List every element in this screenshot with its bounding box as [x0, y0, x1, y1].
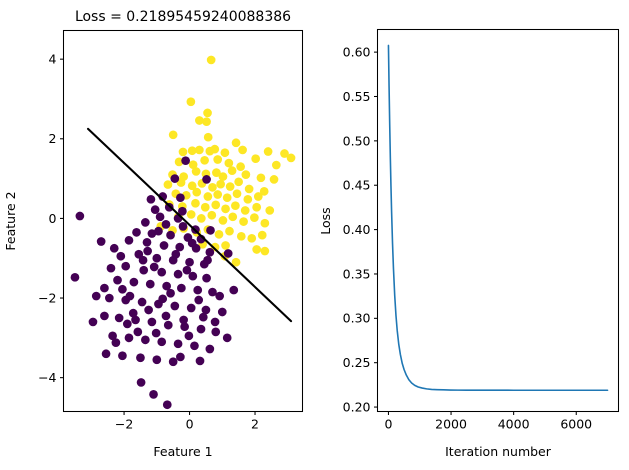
scatter-xlabel: Feature 1 — [153, 444, 212, 459]
subplot-scatter: Loss = 0.21895459240088386 −202 −4−2024 … — [3, 9, 303, 459]
scatter-point — [261, 247, 270, 256]
scatter-point — [287, 154, 296, 163]
scatter-point — [213, 190, 222, 199]
scatter-point — [247, 234, 256, 243]
scatter-point — [125, 334, 134, 343]
scatter-point — [176, 353, 185, 362]
scatter-point — [162, 312, 171, 321]
scatter-point — [223, 193, 232, 202]
scatter-point — [71, 273, 80, 282]
loss-x-ticks: 0200040006000 — [384, 412, 592, 432]
scatter-point — [154, 227, 163, 236]
scatter-point — [211, 318, 220, 327]
scatter-point — [181, 156, 190, 165]
scatter-point — [183, 266, 192, 275]
scatter-point — [193, 286, 202, 295]
loss-y-tick-label: 0.20 — [343, 399, 371, 414]
loss-x-tick-label: 4000 — [498, 417, 530, 432]
loss-y-ticks: 0.200.250.300.350.400.450.500.550.60 — [343, 45, 378, 415]
scatter-point — [202, 175, 211, 184]
scatter-point — [196, 357, 205, 366]
scatter-point — [187, 304, 196, 313]
scatter-point — [157, 268, 166, 277]
scatter-y-tick-label: −4 — [38, 370, 56, 385]
scatter-point — [149, 390, 158, 399]
scatter-point — [171, 250, 180, 259]
scatter-point — [166, 289, 175, 298]
scatter-point — [272, 161, 281, 170]
scatter-point — [221, 241, 230, 250]
scatter-point — [107, 264, 116, 273]
scatter-point — [206, 345, 215, 354]
scatter-point — [242, 170, 251, 179]
scatter-point — [202, 274, 211, 283]
scatter-point — [139, 266, 148, 275]
loss-y-tick-label: 0.25 — [343, 355, 371, 370]
scatter-point — [133, 328, 142, 337]
scatter-point — [176, 193, 185, 202]
scatter-point — [229, 286, 238, 295]
scatter-point — [112, 338, 121, 347]
scatter-point — [221, 148, 230, 157]
loss-y-tick-label: 0.50 — [343, 133, 371, 148]
scatter-point — [132, 228, 141, 237]
scatter-point — [213, 155, 222, 164]
scatter-point — [252, 203, 261, 212]
scatter-point — [174, 270, 183, 279]
scatter-point — [148, 318, 157, 327]
scatter-point — [254, 192, 263, 201]
scatter-point — [118, 285, 127, 294]
scatter-point — [152, 254, 161, 263]
scatter-point — [137, 378, 146, 387]
scatter-points-group — [71, 56, 296, 409]
scatter-point — [225, 227, 234, 236]
scatter-point — [224, 249, 233, 258]
scatter-point — [163, 400, 172, 409]
scatter-point — [192, 167, 201, 176]
scatter-point — [166, 231, 175, 240]
loss-axes-frame — [378, 30, 619, 412]
scatter-point — [211, 201, 220, 210]
scatter-x-ticks: −202 — [115, 412, 259, 432]
scatter-point — [130, 278, 139, 287]
scatter-point — [105, 294, 114, 303]
scatter-point — [234, 177, 243, 186]
scatter-point — [152, 329, 161, 338]
scatter-point — [164, 180, 173, 189]
scatter-point — [190, 341, 199, 350]
scatter-point — [169, 130, 178, 139]
scatter-point — [97, 237, 106, 246]
scatter-point — [170, 174, 179, 183]
scatter-point — [139, 256, 148, 265]
scatter-point — [236, 162, 245, 171]
subplot-loss: 0200040006000 0.200.250.300.350.400.450.… — [318, 30, 619, 460]
scatter-point — [146, 280, 155, 289]
scatter-y-tick-label: 0 — [49, 211, 57, 226]
scatter-point — [144, 306, 153, 315]
scatter-point — [215, 292, 224, 301]
scatter-point — [191, 199, 200, 208]
scatter-point — [204, 133, 213, 142]
scatter-title: Loss = 0.21895459240088386 — [75, 9, 291, 25]
scatter-point — [232, 138, 241, 147]
scatter-x-tick-label: 0 — [186, 417, 194, 432]
scatter-point — [228, 166, 237, 175]
scatter-y-tick-label: −2 — [38, 290, 56, 305]
scatter-point — [238, 146, 247, 155]
scatter-point — [219, 172, 228, 181]
scatter-point — [264, 147, 273, 156]
scatter-point — [187, 97, 196, 106]
scatter-point — [164, 321, 173, 330]
scatter-point — [102, 349, 111, 358]
scatter-point — [202, 117, 211, 126]
scatter-point — [100, 312, 109, 321]
loss-y-tick-label: 0.60 — [343, 45, 371, 60]
scatter-point — [156, 212, 165, 221]
loss-y-tick-label: 0.55 — [343, 89, 371, 104]
loss-y-tick-label: 0.35 — [343, 266, 371, 281]
scatter-point — [123, 320, 132, 329]
scatter-point — [251, 154, 260, 163]
scatter-x-tick-label: 2 — [251, 417, 259, 432]
scatter-point — [143, 238, 152, 247]
scatter-point — [233, 189, 242, 198]
scatter-point — [151, 205, 160, 214]
scatter-point — [138, 298, 147, 307]
scatter-point — [174, 339, 183, 348]
scatter-point — [223, 334, 232, 343]
scatter-point — [188, 239, 197, 248]
loss-xlabel: Iteration number — [445, 444, 552, 459]
scatter-y-ticks: −4−2024 — [38, 52, 63, 385]
scatter-ylabel: Feature 2 — [3, 191, 18, 250]
scatter-point — [201, 203, 210, 212]
scatter-point — [226, 182, 235, 191]
scatter-point — [221, 205, 230, 214]
scatter-point — [187, 210, 196, 219]
scatter-point — [141, 218, 150, 227]
scatter-point — [252, 245, 261, 254]
scatter-x-tick-label: −2 — [115, 417, 133, 432]
scatter-point — [192, 188, 201, 197]
scatter-point — [216, 180, 225, 189]
scatter-y-tick-label: 2 — [49, 131, 57, 146]
scatter-point — [204, 192, 213, 201]
scatter-point — [265, 206, 274, 215]
scatter-point — [158, 294, 167, 303]
scatter-point — [116, 252, 125, 261]
loss-ylabel: Loss — [318, 207, 333, 234]
matplotlib-figure: Loss = 0.21895459240088386 −202 −4−2024 … — [0, 0, 629, 470]
scatter-point — [241, 206, 250, 215]
scatter-point — [231, 201, 240, 210]
scatter-point — [215, 230, 224, 239]
scatter-point — [270, 175, 279, 184]
scatter-point — [76, 212, 85, 221]
scatter-point — [185, 258, 194, 267]
loss-x-tick-label: 2000 — [435, 417, 467, 432]
scatter-point — [194, 296, 203, 305]
scatter-point — [136, 353, 145, 362]
figure-canvas: Loss = 0.21895459240088386 −202 −4−2024 … — [0, 0, 629, 470]
scatter-point — [203, 256, 212, 265]
scatter-point — [92, 292, 101, 301]
scatter-point — [170, 302, 179, 311]
loss-y-tick-label: 0.30 — [343, 311, 371, 326]
loss-x-tick-label: 6000 — [560, 417, 592, 432]
scatter-point — [218, 308, 227, 317]
scatter-point — [125, 236, 134, 245]
scatter-point — [160, 241, 169, 250]
scatter-point — [179, 222, 188, 231]
decision-boundary-line — [88, 129, 291, 321]
scatter-point — [203, 109, 212, 118]
scatter-point — [195, 146, 204, 155]
scatter-point — [169, 357, 178, 366]
scatter-point — [179, 148, 188, 157]
scatter-point — [141, 335, 150, 344]
scatter-point — [179, 316, 188, 325]
scatter-point — [150, 263, 159, 272]
loss-y-tick-label: 0.45 — [343, 178, 371, 193]
scatter-point — [129, 309, 138, 318]
scatter-point — [207, 211, 216, 220]
scatter-point — [143, 247, 152, 256]
scatter-point — [243, 195, 252, 204]
scatter-point — [197, 214, 206, 223]
scatter-point — [210, 145, 219, 154]
loss-y-tick-label: 0.40 — [343, 222, 371, 237]
scatter-point — [110, 244, 119, 253]
scatter-point — [257, 173, 266, 182]
scatter-point — [147, 195, 156, 204]
scatter-point — [206, 248, 215, 257]
scatter-point — [162, 220, 171, 229]
scatter-point — [157, 337, 166, 346]
scatter-point — [152, 355, 161, 364]
scatter-point — [177, 284, 186, 293]
scatter-point — [115, 314, 124, 323]
loss-curve-line — [388, 45, 607, 390]
scatter-point — [250, 213, 259, 222]
scatter-point — [211, 328, 220, 337]
scatter-point — [89, 318, 98, 327]
scatter-point — [208, 183, 217, 192]
scatter-point — [245, 185, 254, 194]
scatter-point — [185, 332, 194, 341]
scatter-point — [121, 262, 130, 271]
scatter-point — [228, 212, 237, 221]
scatter-point — [237, 232, 246, 241]
scatter-y-tick-label: 4 — [49, 52, 57, 67]
scatter-point — [258, 231, 267, 240]
scatter-point — [118, 351, 127, 360]
scatter-point — [199, 313, 208, 322]
scatter-point — [219, 216, 228, 225]
loss-x-tick-label: 0 — [384, 417, 392, 432]
scatter-point — [113, 276, 122, 285]
scatter-point — [126, 292, 135, 301]
scatter-point — [207, 56, 216, 65]
scatter-point — [100, 284, 109, 293]
scatter-point — [197, 325, 206, 334]
scatter-point — [239, 217, 248, 226]
scatter-point — [261, 219, 270, 228]
scatter-point — [224, 159, 233, 168]
scatter-point — [206, 226, 215, 235]
scatter-point — [200, 156, 209, 165]
